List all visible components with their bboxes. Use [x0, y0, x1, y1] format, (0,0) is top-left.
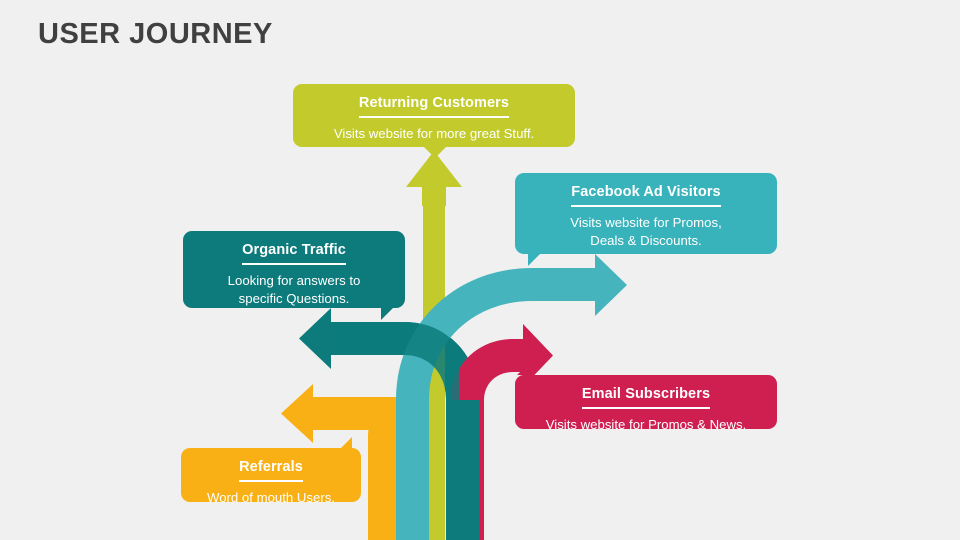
card-organic-traffic[interactable]: Organic Traffic Looking for answers to s… [183, 231, 405, 308]
card-description: Word of mouth Users. [181, 489, 361, 507]
slide-canvas: USER JOURNEY [0, 0, 960, 540]
card-email-subscribers[interactable]: Email Subscribers Visits website for Pro… [515, 375, 777, 429]
card-tail-referrals [341, 437, 352, 448]
journey-flow-diagram [0, 0, 960, 540]
card-description-line1: Visits website for Promos, [570, 215, 721, 230]
card-tail-returning-customers [424, 147, 446, 158]
card-title: Facebook Ad Visitors [571, 183, 720, 207]
card-referrals[interactable]: Referrals Word of mouth Users. [181, 448, 361, 502]
card-facebook-ad-visitors[interactable]: Facebook Ad Visitors Visits website for … [515, 173, 777, 254]
flow-facebook-ad-visitors-arrowhead [532, 254, 627, 316]
card-tail-organic-traffic [381, 308, 393, 320]
card-tail-email-subscribers [517, 364, 528, 375]
card-title: Referrals [239, 458, 303, 482]
card-description-line1: Looking for answers to [228, 273, 361, 288]
card-title: Returning Customers [359, 94, 509, 118]
card-description-line2: specific Questions. [239, 291, 350, 306]
card-description-line2: Deals & Discounts. [590, 233, 701, 248]
card-returning-customers[interactable]: Returning Customers Visits website for m… [293, 84, 575, 147]
flow-returning-customers-arrowhead [406, 151, 462, 206]
card-title: Organic Traffic [242, 241, 346, 265]
overlap-organic-stem [446, 400, 479, 540]
card-description: Visits website for more great Stuff. [293, 125, 575, 143]
card-tail-facebook-ad-visitors [528, 254, 540, 266]
card-description: Visits website for Promos, Deals & Disco… [515, 214, 777, 249]
card-description: Visits website for Promos & News. [515, 416, 777, 434]
card-title: Email Subscribers [582, 385, 710, 409]
card-description: Looking for answers to specific Question… [183, 272, 405, 307]
